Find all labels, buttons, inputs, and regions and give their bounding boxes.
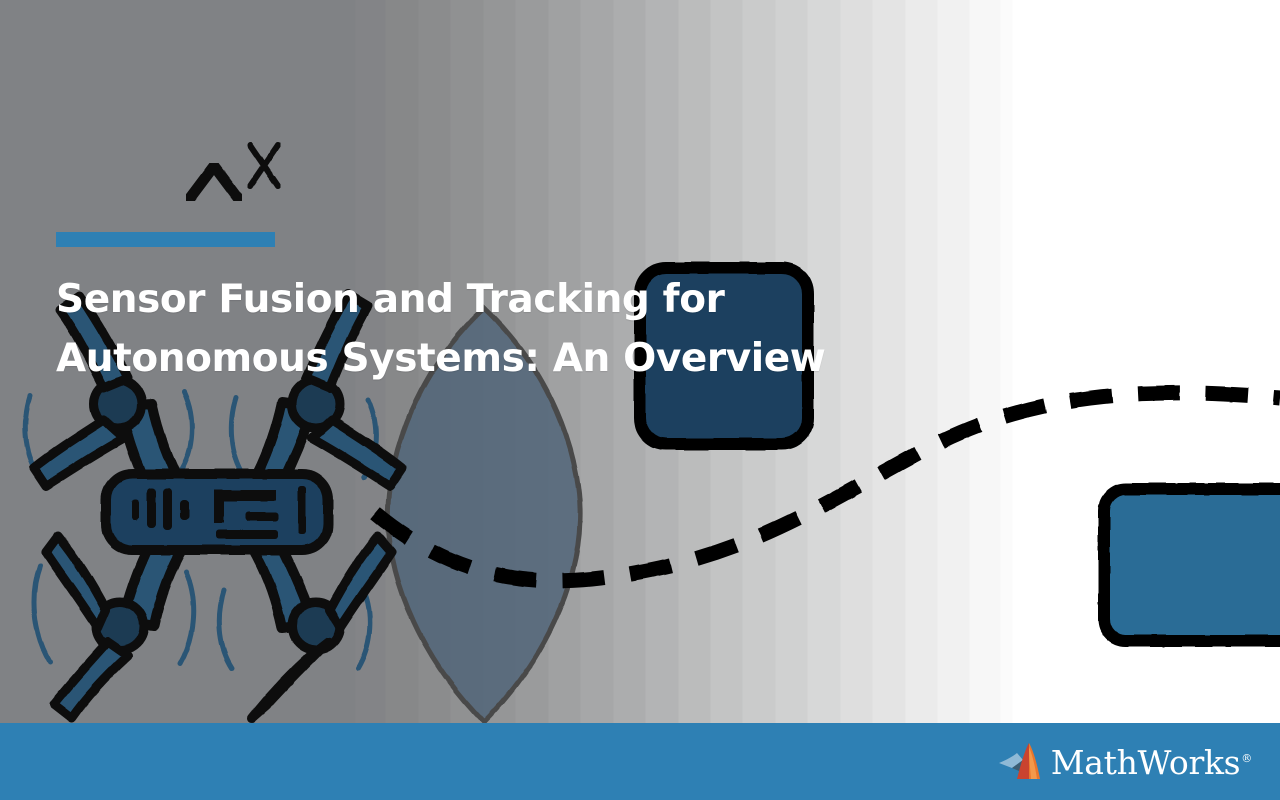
axis-label-x-glyph	[250, 145, 278, 186]
brand-name-text: MathWorks	[1051, 743, 1241, 782]
title-block: Sensor Fusion and Tracking for Autonomou…	[56, 232, 936, 388]
mathworks-wordmark: MathWorks®	[1051, 746, 1252, 779]
registered-trademark-mark: ®	[1241, 752, 1252, 765]
tracked-target-box-2	[1104, 489, 1280, 641]
matlab-membrane-icon	[998, 741, 1042, 783]
presentation-slide: Sensor Fusion and Tracking for Autonomou…	[0, 0, 1280, 800]
page-title: Sensor Fusion and Tracking for Autonomou…	[56, 270, 936, 388]
mathworks-logo[interactable]: MathWorks®	[998, 739, 1252, 785]
drone-body	[106, 474, 328, 550]
title-accent-bar	[56, 232, 275, 247]
